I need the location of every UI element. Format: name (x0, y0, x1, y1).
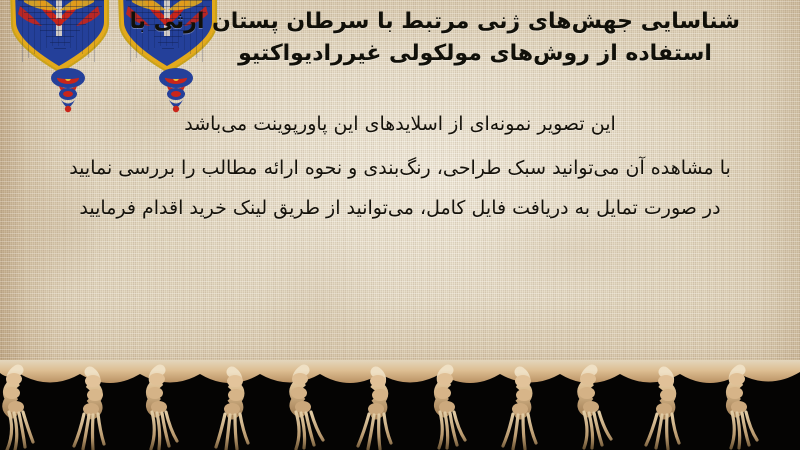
carpet-fringe-icon (0, 360, 800, 450)
title-line-1: شناسایی جهش‌های ژنی مرتبط با سرطان پستان… (210, 6, 740, 38)
slide-body: این تصویر نمونه‌ای از اسلایدهای این پاور… (34, 112, 766, 221)
body-line-2: با مشاهده آن می‌توانید سبک طراحی، رنگ‌بن… (34, 156, 766, 181)
body-line-3: در صورت تمایل به دریافت فایل کامل، می‌تو… (34, 196, 766, 221)
carpet-fringe (0, 360, 800, 450)
title-line-2: استفاده از روش‌های مولکولی غیررادیواکتیو (210, 38, 740, 70)
body-line-1: این تصویر نمونه‌ای از اسلایدهای این پاور… (34, 112, 766, 137)
slide-text-layer: شناسایی جهش‌های ژنی مرتبط با سرطان پستان… (0, 0, 800, 378)
slide-canvas: شناسایی جهش‌های ژنی مرتبط با سرطان پستان… (0, 0, 800, 450)
slide-title: شناسایی جهش‌های ژنی مرتبط با سرطان پستان… (210, 6, 740, 70)
